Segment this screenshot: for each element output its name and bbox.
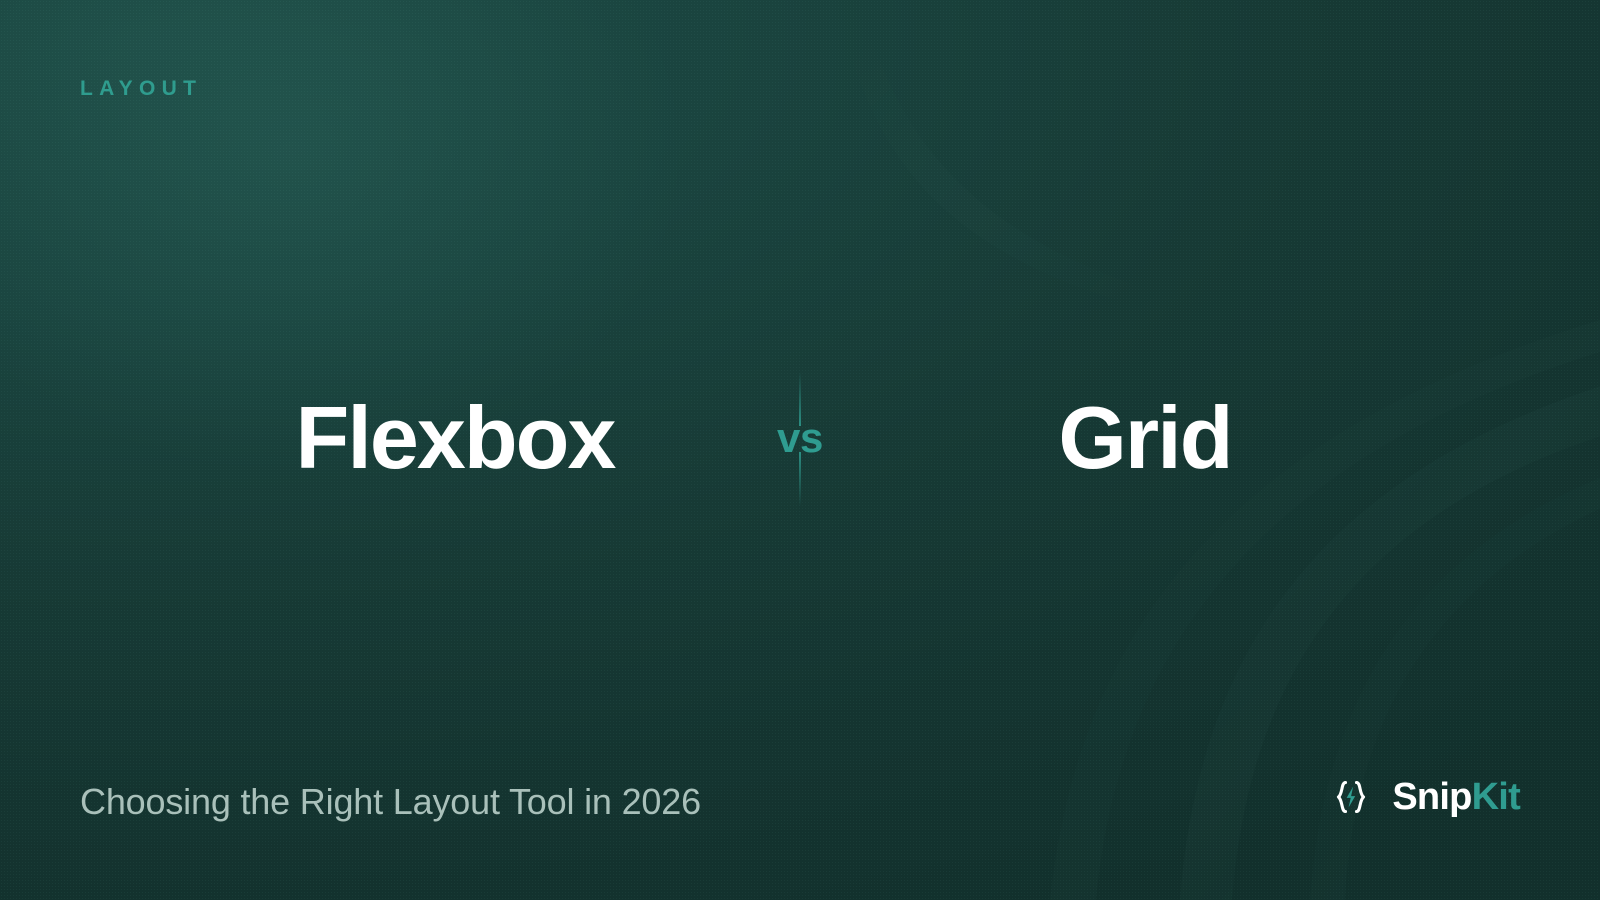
comparison-divider-label: vs (777, 417, 823, 459)
comparison-headline: Flexbox vs Grid (0, 338, 1600, 538)
code-braces-bolt-icon (1328, 774, 1374, 820)
comparison-right-term: Grid (875, 394, 1415, 482)
footer-caption: Choosing the Right Layout Tool in 2026 (80, 784, 701, 820)
slide-canvas: LAYOUT Flexbox vs Grid Choosing the Righ… (0, 0, 1600, 900)
brand-name-accent: Kit (1472, 776, 1520, 818)
brand-wordmark: SnipKit (1392, 778, 1520, 816)
brand-lockup: SnipKit (1328, 774, 1520, 820)
comparison-left-term: Flexbox (185, 394, 725, 482)
comparison-divider: vs (725, 338, 875, 538)
brand-name-primary: Snip (1392, 776, 1471, 818)
eyebrow-label: LAYOUT (80, 78, 202, 99)
